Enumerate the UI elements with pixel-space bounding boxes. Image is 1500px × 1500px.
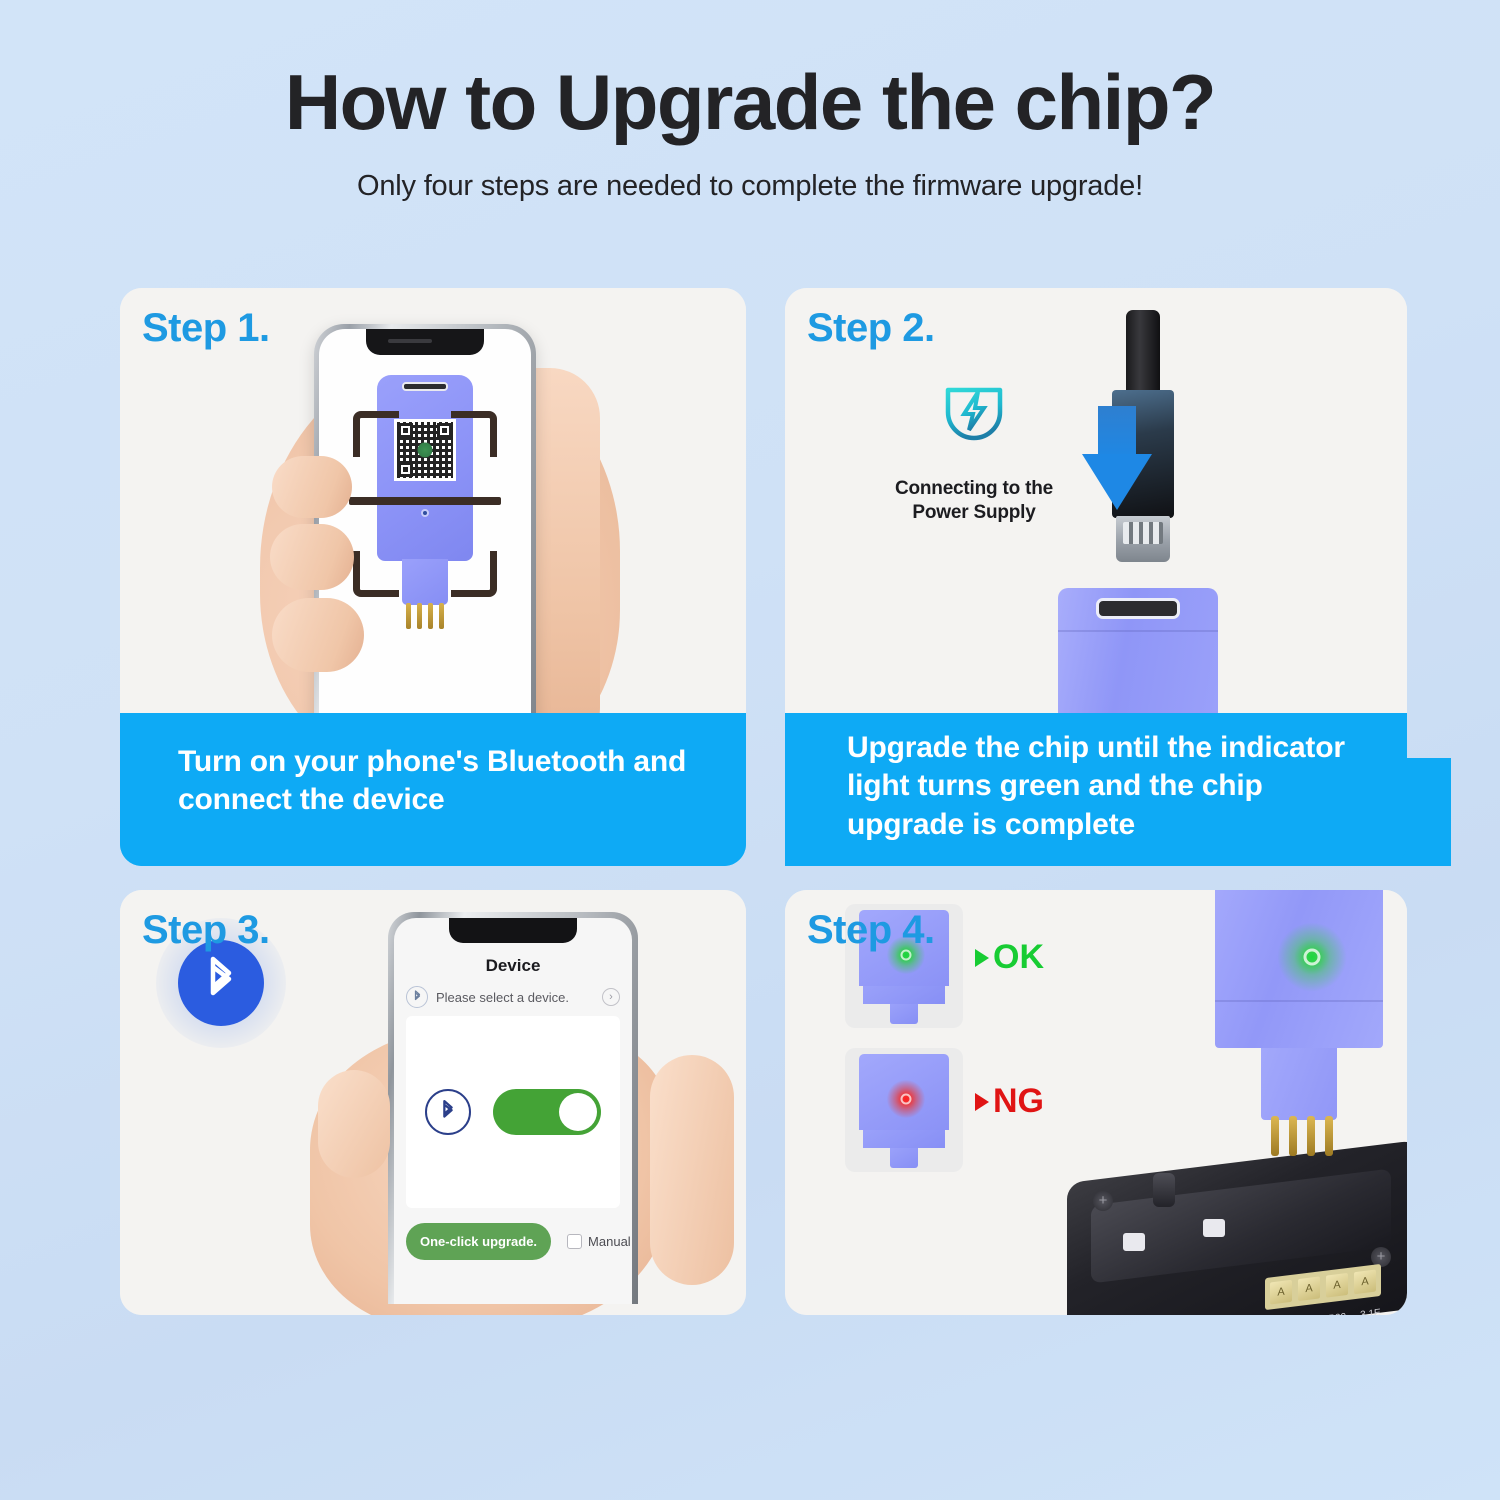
arrow-down-icon-stem bbox=[1098, 406, 1136, 460]
pin bbox=[406, 603, 411, 629]
bluetooth-icon bbox=[406, 986, 428, 1008]
bluetooth-toggle[interactable] bbox=[493, 1089, 601, 1135]
status-ok-label: OK bbox=[993, 938, 1044, 977]
finger bbox=[272, 598, 364, 672]
qr-finder-bottom-left bbox=[398, 462, 413, 477]
phone-mockup: Device Please select a device. › bbox=[388, 912, 638, 1304]
page-title: How to Upgrade the chip? bbox=[0, 62, 1500, 144]
qr-finder-top-right bbox=[437, 423, 452, 438]
scan-line bbox=[349, 497, 501, 505]
chip-device-mini bbox=[859, 1054, 949, 1166]
steps-grid: Step 1. Scan the code to download the " … bbox=[120, 288, 1460, 1468]
step-3-caption-line-1: Turn on your phone's Bluetooth and bbox=[178, 743, 746, 781]
one-click-upgrade-button[interactable]: One-click upgrade. bbox=[406, 1223, 551, 1260]
pin bbox=[439, 603, 444, 629]
contact: A bbox=[1270, 1280, 1292, 1305]
step-4-caption-line-3: upgrade is complete bbox=[847, 806, 1407, 844]
manual-checkbox-row[interactable]: Manual bbox=[567, 1234, 631, 1249]
screw-icon bbox=[1093, 1191, 1113, 1211]
cartridge-post bbox=[1153, 1173, 1175, 1207]
power-supply-note: Connecting to the Power Supply bbox=[879, 364, 1069, 525]
step-1-label: Step 1. bbox=[142, 306, 270, 351]
step-4-caption-line-1: Upgrade the chip until the indicator bbox=[847, 729, 1407, 767]
status-badge-ng: NG bbox=[975, 1082, 1044, 1121]
action-row: One-click upgrade. Manual bbox=[406, 1223, 620, 1260]
status-badge-ok: OK bbox=[975, 938, 1044, 977]
step-3-caption: Turn on your phone's Bluetooth and conne… bbox=[120, 713, 746, 866]
step-4-caption: Upgrade the chip until the indicator lig… bbox=[785, 713, 1407, 866]
bluetooth-glyph bbox=[199, 955, 243, 1011]
mark: 3.1E bbox=[1360, 1307, 1381, 1315]
led-green-icon bbox=[1277, 922, 1347, 992]
phone-screen: Device Please select a device. › bbox=[394, 918, 632, 1304]
indicator-led bbox=[421, 509, 429, 517]
chip-tab bbox=[890, 1148, 918, 1168]
thumb bbox=[318, 1070, 390, 1178]
power-text-line-2: Power Supply bbox=[879, 501, 1069, 525]
phone-screen bbox=[319, 329, 531, 751]
qr-code-icon bbox=[394, 419, 456, 481]
power-supply-text: Connecting to the Power Supply bbox=[879, 477, 1069, 525]
step-1-illustration bbox=[120, 288, 746, 758]
scan-bracket-bottom-left bbox=[353, 551, 399, 597]
chip-device-neck bbox=[1261, 1048, 1337, 1120]
pin bbox=[1325, 1116, 1333, 1156]
scan-bracket-top-right bbox=[451, 411, 497, 457]
step-2-card: Connecting to the Power Supply Step 2. bbox=[785, 288, 1407, 758]
page-header: How to Upgrade the chip? Only four steps… bbox=[0, 0, 1500, 203]
triangle-marker-icon bbox=[975, 949, 989, 967]
step-3-label: Step 3. bbox=[142, 908, 270, 953]
step-4-illustration: OK NG bbox=[785, 890, 1407, 1315]
qr-pattern bbox=[397, 422, 453, 478]
arrow-down-icon bbox=[1082, 454, 1152, 510]
scan-bracket-top-left bbox=[353, 411, 399, 457]
step-4-caption-line-2: light turns green and the chip bbox=[847, 767, 1407, 805]
pin bbox=[417, 603, 422, 629]
usb-port-icon bbox=[402, 382, 448, 391]
bluetooth-toggle-panel bbox=[406, 1016, 620, 1208]
pin bbox=[1289, 1116, 1297, 1156]
device-select-hint: Please select a device. bbox=[436, 990, 594, 1005]
toner-cartridge: A A A A N B89 3.1E bbox=[1067, 1129, 1407, 1315]
chip-device-neck bbox=[402, 559, 448, 605]
step-3-card: Device Please select a device. › bbox=[120, 890, 746, 1315]
contact: A bbox=[1326, 1273, 1348, 1298]
triangle-marker-icon bbox=[975, 1093, 989, 1111]
qr-finder-top-left bbox=[398, 423, 413, 438]
bluetooth-icon bbox=[425, 1089, 471, 1135]
step-4-card: OK NG bbox=[785, 890, 1407, 1315]
chip-tab bbox=[890, 1004, 918, 1024]
contact-pad bbox=[1123, 1233, 1145, 1251]
finger bbox=[650, 1055, 734, 1285]
chip-upgrade-device bbox=[1215, 890, 1383, 1148]
manual-checkbox[interactable] bbox=[567, 1234, 582, 1249]
chevron-right-icon[interactable]: › bbox=[602, 988, 620, 1006]
chip-device-body bbox=[377, 375, 473, 561]
qr-center-logo bbox=[418, 443, 433, 458]
step-2-illustration: Connecting to the Power Supply bbox=[785, 288, 1407, 758]
manual-label: Manual bbox=[588, 1234, 631, 1249]
chip-pins bbox=[1271, 1116, 1333, 1156]
device-select-row[interactable]: Please select a device. › bbox=[406, 986, 620, 1008]
pin bbox=[1307, 1116, 1315, 1156]
step-3-caption-line-2: connect the device bbox=[178, 781, 746, 819]
chip-bottom bbox=[863, 1130, 945, 1148]
contact: A bbox=[1354, 1269, 1376, 1294]
step-2-label: Step 2. bbox=[807, 306, 935, 351]
status-ng-label: NG bbox=[993, 1082, 1044, 1121]
led-red-icon bbox=[887, 1080, 925, 1118]
usb-cable bbox=[1126, 310, 1160, 396]
indicator-panel-ng bbox=[845, 1048, 963, 1172]
phone-notch bbox=[449, 918, 577, 943]
usb-connector-head bbox=[1116, 516, 1170, 562]
step-1-card: Step 1. bbox=[120, 288, 746, 758]
phone-notch bbox=[366, 329, 484, 355]
finger bbox=[270, 524, 354, 590]
app-title: Device bbox=[394, 956, 632, 976]
finger bbox=[272, 456, 352, 518]
chip-pins bbox=[406, 603, 444, 629]
plug-power-icon bbox=[926, 364, 1022, 460]
scan-bracket-bottom-right bbox=[451, 551, 497, 597]
contact-pad bbox=[1203, 1219, 1225, 1237]
pin bbox=[1271, 1116, 1279, 1156]
power-text-line-1: Connecting to the bbox=[879, 477, 1069, 501]
page-subtitle: Only four steps are needed to complete t… bbox=[0, 170, 1500, 203]
chip-bottom bbox=[863, 986, 945, 1004]
step-3-illustration: Device Please select a device. › bbox=[120, 890, 746, 1315]
contact: A bbox=[1298, 1276, 1320, 1301]
pin bbox=[428, 603, 433, 629]
step-4-label: Step 4. bbox=[807, 908, 935, 953]
